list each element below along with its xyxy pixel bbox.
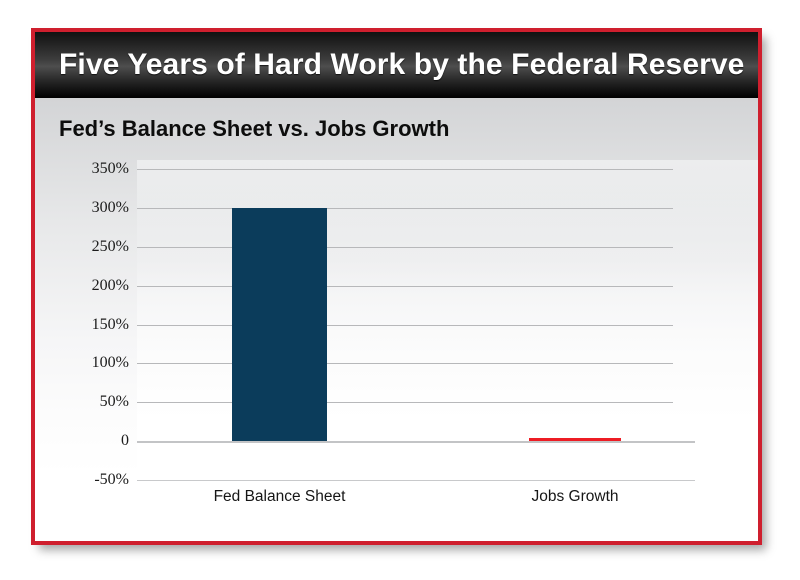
gridline <box>137 480 695 481</box>
gridline <box>137 363 673 364</box>
screenshot-canvas: Five Years of Hard Work by the Federal R… <box>0 0 800 580</box>
y-axis-tick-label: 150% <box>92 316 129 334</box>
chart-subtitle: Fed’s Balance Sheet vs. Jobs Growth <box>59 116 449 142</box>
y-axis: 350%300%250%200%150%100%50%0-50% <box>35 160 129 485</box>
y-axis-tick-label: -50% <box>94 471 129 489</box>
page-title: Five Years of Hard Work by the Federal R… <box>59 48 744 82</box>
gridline <box>137 325 673 326</box>
bar-jobs-growth <box>529 438 621 441</box>
x-axis-label-jobs-growth: Jobs Growth <box>465 488 685 506</box>
gridline <box>137 402 673 403</box>
gridline <box>137 286 673 287</box>
y-axis-tick-label: 0 <box>121 432 129 450</box>
x-axis-label-fed-balance-sheet: Fed Balance Sheet <box>167 488 392 506</box>
gridline <box>137 247 673 248</box>
y-axis-tick-label: 50% <box>100 393 129 411</box>
y-axis-tick-label: 200% <box>92 277 129 295</box>
y-axis-tick-label: 350% <box>92 160 129 178</box>
gridline <box>137 208 673 209</box>
y-axis-tick-label: 300% <box>92 199 129 217</box>
gridline <box>137 441 695 443</box>
gridline <box>137 169 673 170</box>
bar-fed-balance-sheet <box>232 208 327 441</box>
bar-chart: 350%300%250%200%150%100%50%0-50% Fed Bal… <box>35 160 758 520</box>
y-axis-tick-label: 250% <box>92 238 129 256</box>
card-title-bar: Five Years of Hard Work by the Federal R… <box>35 32 758 98</box>
chart-card: Five Years of Hard Work by the Federal R… <box>31 28 762 545</box>
y-axis-tick-label: 100% <box>92 354 129 372</box>
card-body: Fed’s Balance Sheet vs. Jobs Growth 350%… <box>35 98 758 541</box>
